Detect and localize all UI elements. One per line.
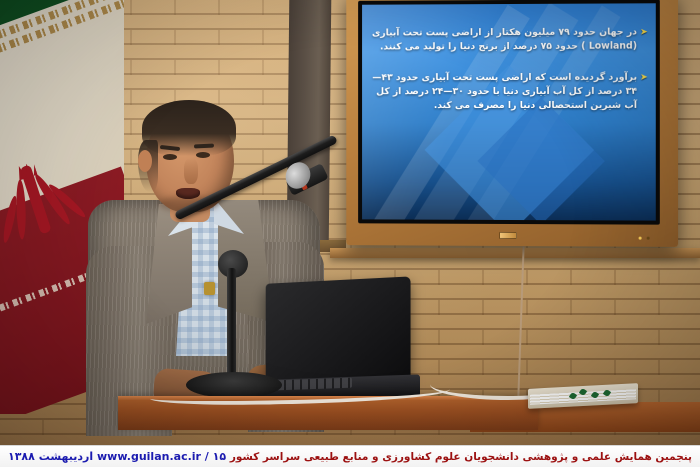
display-bezel: ➤ در جهان حدود ۷۹ میلیون هکتار از اراضی … [358,0,660,225]
speaker-ear [138,150,152,172]
presentation-display[interactable]: ➤ در جهان حدود ۷۹ میلیون هکتار از اراضی … [346,0,678,247]
banner-url-and-date[interactable]: www.guilan.ac.ir / ۱۵ اردیبهشت ۱۳۸۸ [8,450,226,463]
screen-glare [362,3,656,220]
speaker-badge [204,282,215,295]
power-led-icon [639,237,642,240]
slide-screen: ➤ در جهان حدود ۷۹ میلیون هکتار از اراضی … [362,3,656,220]
standby-led-icon [647,237,650,240]
microphone-stand-pole [227,268,236,376]
screenshot-stage: ➤ در جهان حدود ۷۹ میلیون هکتار از اراضی … [0,0,700,467]
speaker-mouth [176,188,200,199]
display-bottom-bezel [358,223,660,246]
banner-event-title: پنجمین همایش علمی و پژوهشی دانشجویان علو… [230,451,692,463]
speaker-eye-left [163,154,177,160]
display-brand-logo [499,231,517,238]
wall-ledge [330,248,700,258]
speaker-nose [184,158,198,184]
speaker-eye-right [196,152,210,158]
bottom-banner: www.guilan.ac.ir / ۱۵ اردیبهشت ۱۳۸۸ پنجم… [0,445,700,467]
